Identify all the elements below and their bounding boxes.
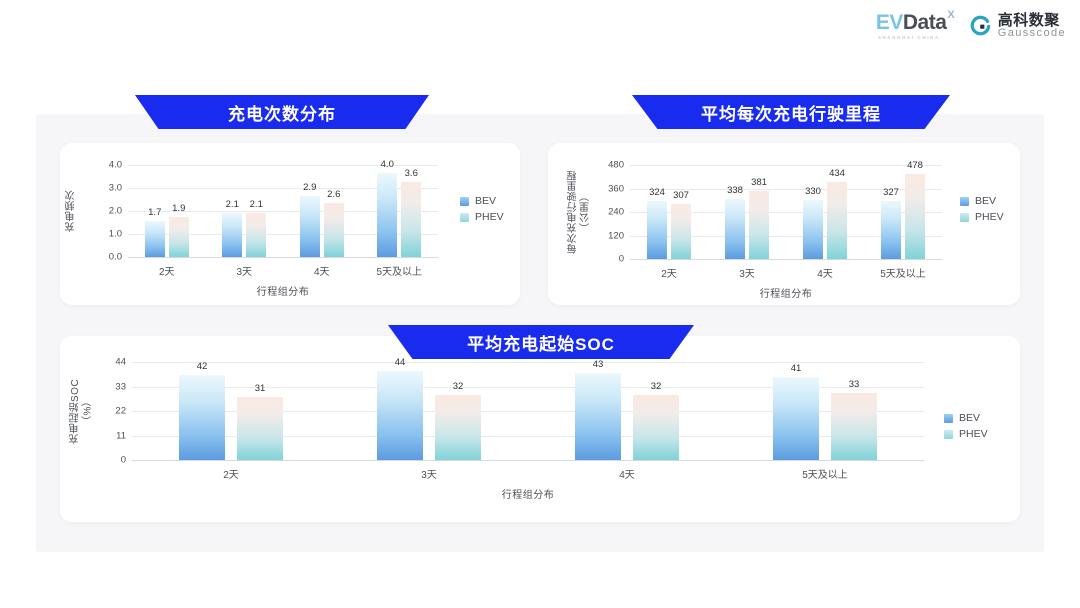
legend-label: PHEV	[975, 211, 1004, 223]
bar-bev[interactable]: 42	[179, 375, 225, 460]
legend-item-bev[interactable]: BEV	[460, 195, 504, 207]
gausscode-logo: 高科数聚 Gausscode	[969, 13, 1066, 40]
x-axis-tick: 5天及以上	[726, 466, 924, 481]
y-axis-tick: 44	[115, 357, 126, 368]
evdata-wordmark: EV Data X	[876, 12, 955, 33]
plot-area: 1.71.92.12.12.92.64.03.6	[128, 165, 438, 257]
evdata-data-text: Data	[903, 12, 947, 33]
bar-phev[interactable]: 381	[749, 191, 769, 259]
y-axis-tick: 22	[115, 406, 126, 417]
bar-groups: 4231443243324133	[132, 362, 924, 460]
gausscode-en-name: Gausscode	[998, 28, 1066, 40]
bar-phev[interactable]: 33	[831, 393, 877, 460]
bar-phev[interactable]: 478	[905, 174, 925, 259]
legend-swatch-icon	[944, 430, 953, 439]
bar-value-label: 2.1	[250, 199, 263, 210]
gridline	[132, 460, 924, 461]
gridline	[128, 257, 438, 258]
gausscode-cn-name: 高科数聚	[998, 13, 1066, 29]
bar-value-label: 41	[791, 363, 802, 374]
bar-bev[interactable]: 1.7	[145, 221, 165, 257]
bar-group: 4133	[726, 362, 924, 460]
x-axis-title: 行程组分布	[128, 283, 438, 298]
bar-value-label: 1.7	[148, 207, 161, 218]
bar-group: 330434	[786, 165, 864, 259]
bar-phev[interactable]: 32	[435, 395, 481, 460]
y-axis-ticks: 443322110	[96, 362, 126, 460]
x-axis-tick: 5天及以上	[864, 265, 942, 280]
bar-phev[interactable]: 31	[237, 397, 283, 460]
y-axis-tick: 120	[608, 230, 624, 241]
bar-value-label: 32	[651, 381, 662, 392]
bar-chart-mileage-per-charge: 每次充电行驶里程 （公里）480360240120032430733838133…	[548, 143, 1020, 305]
chart-title-banner-2: 平均每次充电行驶里程	[632, 95, 950, 129]
bar-groups: 324307338381330434327478	[630, 165, 942, 259]
x-axis-tick: 5天及以上	[361, 263, 439, 278]
y-axis-ticks: 4803602401200	[594, 165, 624, 259]
bar-value-label: 330	[805, 186, 821, 197]
gridline	[630, 259, 942, 260]
x-axis-tick: 2天	[128, 263, 206, 278]
evdata-logo: EV Data X SHANGHAI CHINA	[876, 12, 955, 41]
evdata-x-icon: X	[947, 10, 954, 21]
bar-value-label: 338	[727, 185, 743, 196]
y-axis-tick: 4.0	[109, 160, 122, 171]
evdata-tagline: SHANGHAI CHINA	[878, 36, 940, 41]
bar-bev[interactable]: 41	[773, 377, 819, 460]
bar-group: 1.71.9	[128, 165, 206, 257]
legend-label: PHEV	[475, 211, 504, 223]
bar-value-label: 33	[849, 379, 860, 390]
x-axis-tick: 3天	[330, 466, 528, 481]
y-axis-tick: 0	[121, 455, 126, 466]
y-axis-tick: 480	[608, 160, 624, 171]
legend-item-phev[interactable]: PHEV	[944, 428, 988, 440]
bar-group: 2.92.6	[283, 165, 361, 257]
y-axis-tick: 240	[608, 207, 624, 218]
bar-group: 2.12.1	[206, 165, 284, 257]
legend-swatch-icon	[460, 197, 469, 206]
bar-value-label: 44	[395, 357, 406, 368]
x-axis-tick: 4天	[283, 263, 361, 278]
y-axis-tick: 0	[619, 254, 624, 265]
gausscode-text: 高科数聚 Gausscode	[998, 13, 1066, 40]
evdata-ev-text: EV	[876, 12, 903, 33]
legend-swatch-icon	[944, 414, 953, 423]
bar-value-label: 31	[255, 383, 266, 394]
bar-bev[interactable]: 330	[803, 200, 823, 259]
legend-label: BEV	[475, 195, 496, 207]
x-axis-tick: 2天	[132, 466, 330, 481]
y-axis-tick: 360	[608, 183, 624, 194]
bar-value-label: 434	[829, 168, 845, 179]
y-axis-tick: 3.0	[109, 183, 122, 194]
bar-value-label: 4.0	[381, 159, 394, 170]
bar-value-label: 324	[649, 187, 665, 198]
bar-value-label: 2.1	[226, 199, 239, 210]
bar-value-label: 43	[593, 359, 604, 370]
chart-legend: BEVPHEV	[960, 195, 1004, 223]
x-axis-title: 行程组分布	[132, 486, 924, 501]
plot-area: 4231443243324133	[132, 362, 924, 460]
legend-swatch-icon	[960, 197, 969, 206]
bar-bev[interactable]: 2.1	[222, 213, 242, 257]
y-axis-tick: 1.0	[109, 229, 122, 240]
bar-group: 4.03.6	[361, 165, 439, 257]
bar-phev[interactable]: 32	[633, 395, 679, 460]
bar-group: 4432	[330, 362, 528, 460]
bar-phev[interactable]: 307	[671, 204, 691, 259]
bar-value-label: 478	[907, 160, 923, 171]
legend-item-bev[interactable]: BEV	[960, 195, 1004, 207]
bar-phev[interactable]: 2.1	[246, 213, 266, 257]
y-axis-tick: 11	[116, 430, 126, 441]
bar-bev[interactable]: 44	[377, 371, 423, 460]
x-axis-labels: 2天3天4天5天及以上	[128, 263, 438, 278]
y-axis-ticks: 4.03.02.01.00.0	[92, 165, 122, 257]
bar-value-label: 2.6	[327, 189, 340, 200]
bar-phev[interactable]: 3.6	[401, 182, 421, 257]
chart-title-banner-1: 充电次数分布	[135, 95, 429, 129]
x-axis-tick: 4天	[786, 265, 864, 280]
bar-bev[interactable]: 327	[881, 201, 901, 259]
bar-bev[interactable]: 338	[725, 199, 745, 259]
legend-label: BEV	[975, 195, 996, 207]
bar-value-label: 32	[453, 381, 464, 392]
y-axis-tick: 0.0	[109, 252, 122, 263]
bar-value-label: 1.9	[172, 203, 185, 214]
legend-item-phev[interactable]: PHEV	[460, 211, 504, 223]
x-axis-tick: 3天	[708, 265, 786, 280]
bar-phev[interactable]: 2.6	[324, 203, 344, 257]
bar-group: 324307	[630, 165, 708, 259]
x-axis-title: 行程组分布	[630, 285, 942, 300]
legend-swatch-icon	[960, 213, 969, 222]
bar-phev[interactable]: 434	[827, 182, 847, 259]
bar-group: 338381	[708, 165, 786, 259]
bar-value-label: 327	[883, 187, 899, 198]
bar-groups: 1.71.92.12.12.92.64.03.6	[128, 165, 438, 257]
legend-label: PHEV	[959, 428, 988, 440]
bar-phev[interactable]: 1.9	[169, 217, 189, 257]
x-axis-tick: 4天	[528, 466, 726, 481]
chart-legend: BEVPHEV	[460, 195, 504, 223]
bar-chart-charging-frequency: 充电频次4.03.02.01.00.01.71.92.12.12.92.64.0…	[60, 143, 520, 305]
bar-value-label: 2.9	[303, 182, 316, 193]
chart-legend: BEVPHEV	[944, 412, 988, 440]
plot-area: 324307338381330434327478	[630, 165, 942, 259]
legend-swatch-icon	[460, 213, 469, 222]
x-axis-labels: 2天3天4天5天及以上	[630, 265, 942, 280]
bar-chart-start-soc: 充电起始SOC （%）44332211042314432433241332天3天…	[60, 336, 1020, 522]
bar-bev[interactable]: 2.9	[300, 196, 320, 257]
y-axis-tick: 2.0	[109, 206, 122, 217]
gausscode-g-icon	[969, 15, 992, 38]
bar-group: 4332	[528, 362, 726, 460]
x-axis-tick: 3天	[206, 263, 284, 278]
bar-bev[interactable]: 4.0	[377, 173, 397, 257]
x-axis-labels: 2天3天4天5天及以上	[132, 466, 924, 481]
legend-label: BEV	[959, 412, 980, 424]
bar-bev[interactable]: 43	[575, 373, 621, 460]
legend-item-phev[interactable]: PHEV	[960, 211, 1004, 223]
legend-item-bev[interactable]: BEV	[944, 412, 988, 424]
bar-value-label: 42	[197, 361, 208, 372]
bar-group: 327478	[864, 165, 942, 259]
bar-value-label: 307	[673, 190, 689, 201]
bar-bev[interactable]: 324	[647, 201, 667, 259]
bar-value-label: 381	[751, 177, 767, 188]
y-axis-tick: 33	[115, 381, 126, 392]
bar-value-label: 3.6	[405, 168, 418, 179]
bar-group: 4231	[132, 362, 330, 460]
logo-bar: EV Data X SHANGHAI CHINA 高科数聚 Gausscode	[876, 12, 1066, 41]
x-axis-tick: 2天	[630, 265, 708, 280]
